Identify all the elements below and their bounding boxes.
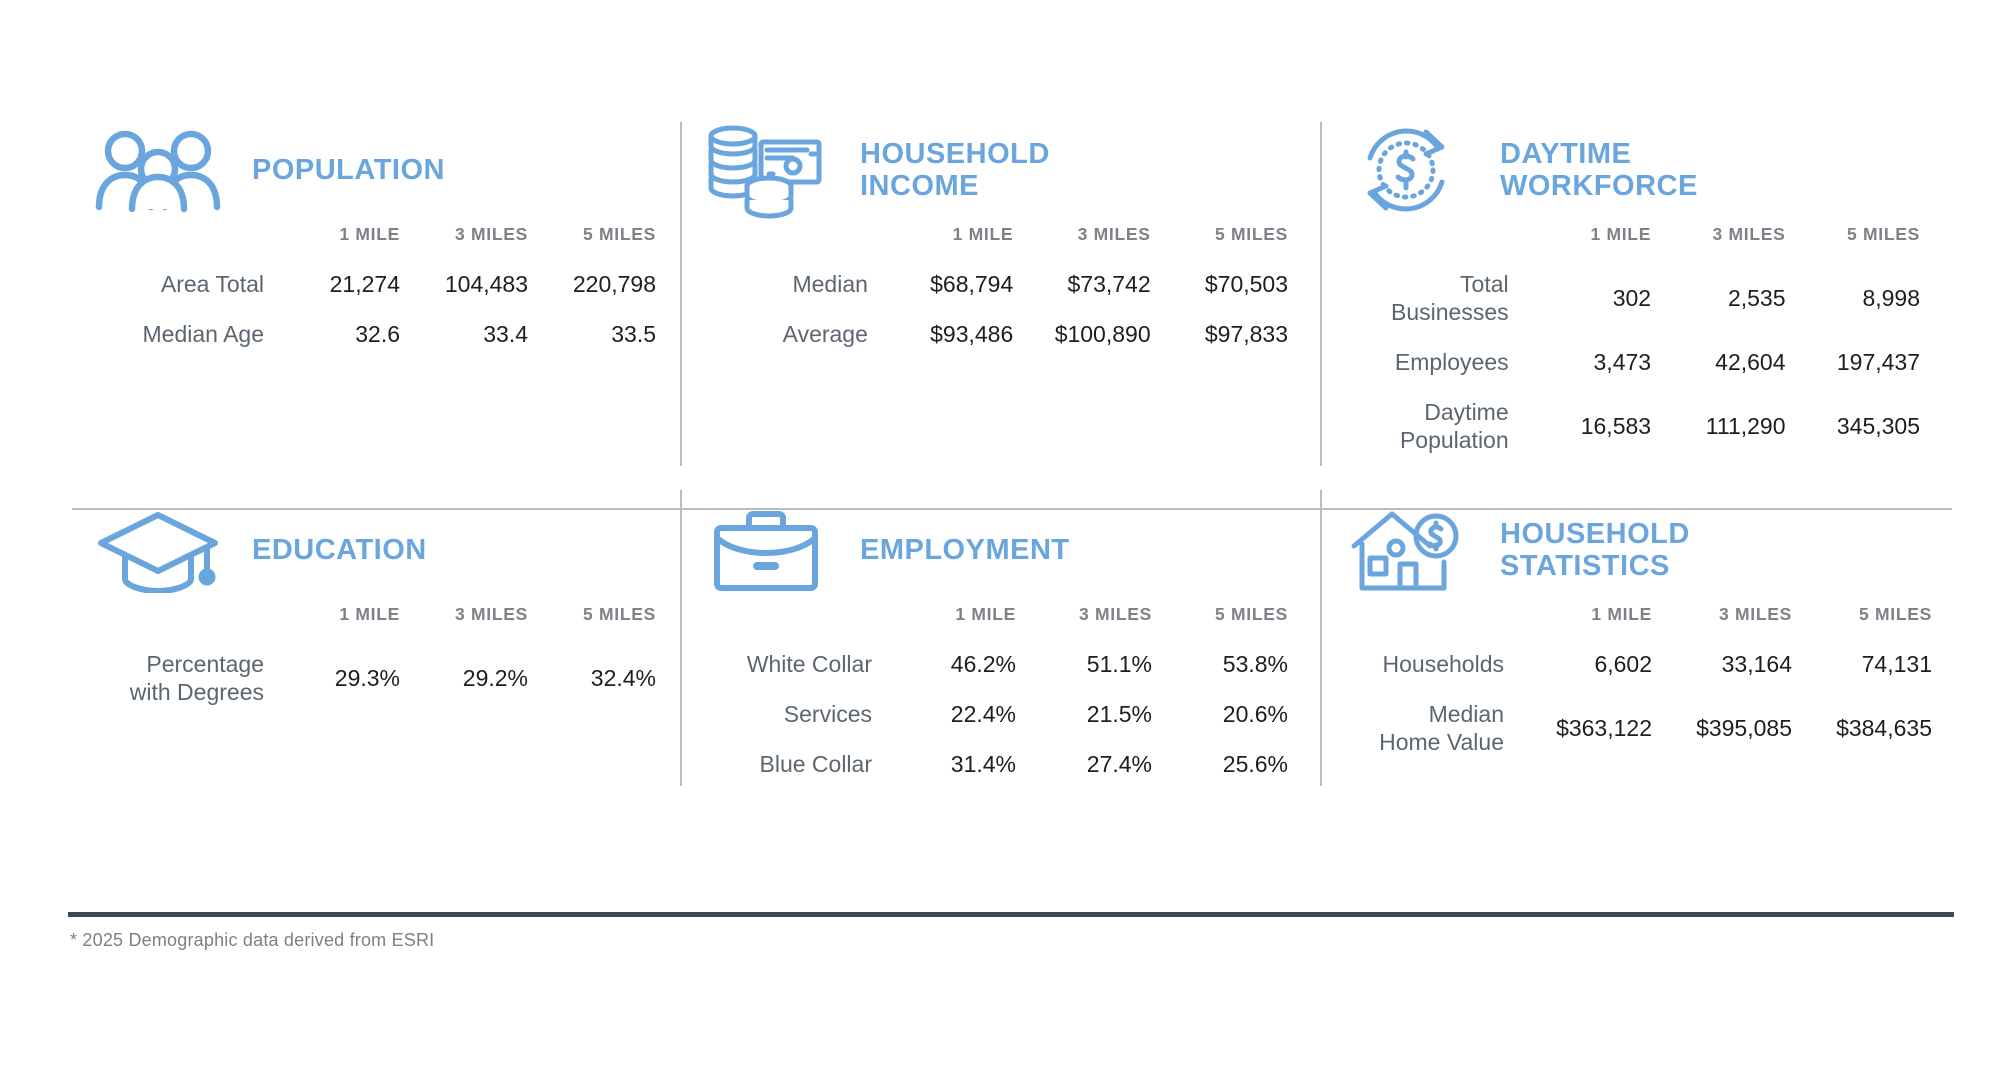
cell-value: 32.4% [546, 639, 674, 717]
table-row: Total Businesses 302 2,535 8,998 [1342, 259, 1938, 337]
column-header-3miles: 3 MILES [418, 604, 546, 639]
table-header-row: 1 MILE 3 MILES 5 MILES [702, 224, 1306, 259]
cell-value: 27.4% [1034, 739, 1170, 789]
table-header-row: 1 MILE 3 MILES 5 MILES [1342, 604, 1950, 639]
cell-value: 21.5% [1034, 689, 1170, 739]
panel-title: HOUSEHOLD INCOME [860, 138, 1050, 203]
cell-value: 51.1% [1034, 639, 1170, 689]
column-header-5miles: 5 MILES [1170, 604, 1306, 639]
column-header-1mile: 1 MILE [290, 604, 418, 639]
table-row: Percentage with Degrees 29.3% 29.2% 32.4… [94, 639, 674, 717]
column-header-5miles: 5 MILES [1804, 224, 1938, 259]
stats-table-employment: 1 MILE 3 MILES 5 MILES White Collar 46.2… [702, 604, 1306, 789]
panel-header-household-income: HOUSEHOLD INCOME [680, 118, 1320, 222]
panel-population: POPULATION 1 MILE 3 MILES 5 MILES Area T… [72, 118, 680, 476]
table-row: White Collar 46.2% 51.1% 53.8% [702, 639, 1306, 689]
column-header-3miles: 3 MILES [1031, 224, 1168, 259]
row-label: Daytime Population [1342, 387, 1535, 465]
row-label: Employees [1342, 337, 1535, 387]
cell-value: 220,798 [546, 259, 674, 309]
table-row: Services 22.4% 21.5% 20.6% [702, 689, 1306, 739]
panel-daytime-workforce: DAYTIME WORKFORCE 1 MILE 3 MILES 5 MILES… [1320, 118, 1952, 476]
row-label: Average [702, 309, 894, 359]
column-header-5miles: 5 MILES [1169, 224, 1306, 259]
cell-value: 21,274 [290, 259, 418, 309]
cell-value: 8,998 [1804, 259, 1938, 337]
column-header-1mile: 1 MILE [898, 604, 1034, 639]
cell-value: 6,602 [1530, 639, 1670, 689]
table-row: Households 6,602 33,164 74,131 [1342, 639, 1950, 689]
table-header-row: 1 MILE 3 MILES 5 MILES [702, 604, 1306, 639]
cell-value: 345,305 [1804, 387, 1938, 465]
table-row: Median Home Value $363,122 $395,085 $384… [1342, 689, 1950, 767]
panel-header-household-statistics: HOUSEHOLD STATISTICS [1320, 498, 1952, 602]
cell-value: 302 [1535, 259, 1669, 337]
row-label: Services [702, 689, 898, 739]
cell-value: 33.5 [546, 309, 674, 359]
panel-employment: EMPLOYMENT 1 MILE 3 MILES 5 MILES White … [680, 476, 1320, 816]
cell-value: 29.3% [290, 639, 418, 717]
footer-rule [68, 912, 1954, 917]
table-header-row: 1 MILE 3 MILES 5 MILES [94, 224, 674, 259]
cell-value: 22.4% [898, 689, 1034, 739]
table-header-row: 1 MILE 3 MILES 5 MILES [1342, 224, 1938, 259]
cell-value: 31.4% [898, 739, 1034, 789]
panel-title: DAYTIME WORKFORCE [1500, 138, 1698, 203]
row-label: Median [702, 259, 894, 309]
column-header-3miles: 3 MILES [418, 224, 546, 259]
row-label: Households [1342, 639, 1530, 689]
table-row: Blue Collar 31.4% 27.4% 25.6% [702, 739, 1306, 789]
row-label: Median Home Value [1342, 689, 1530, 767]
cell-value: $70,503 [1169, 259, 1306, 309]
table-row: Median Age 32.6 33.4 33.5 [94, 309, 674, 359]
panel-title: EMPLOYMENT [860, 534, 1070, 566]
row-label: Median Age [94, 309, 290, 359]
panel-header-employment: EMPLOYMENT [680, 498, 1320, 602]
panel-title: HOUSEHOLD STATISTICS [1500, 518, 1690, 583]
cell-value: 32.6 [290, 309, 418, 359]
row-label: Blue Collar [702, 739, 898, 789]
table-row: Median $68,794 $73,742 $70,503 [702, 259, 1306, 309]
panel-title: POPULATION [252, 154, 445, 186]
column-header-1mile: 1 MILE [1535, 224, 1669, 259]
cell-value: $73,742 [1031, 259, 1168, 309]
stats-table-daytime-workforce: 1 MILE 3 MILES 5 MILES Total Businesses … [1342, 224, 1938, 465]
cell-value: 33,164 [1670, 639, 1810, 689]
house-with-dollar-icon [1342, 504, 1470, 596]
column-header-3miles: 3 MILES [1034, 604, 1170, 639]
panel-household-statistics: HOUSEHOLD STATISTICS 1 MILE 3 MILES 5 MI… [1320, 476, 1952, 816]
graduation-cap-icon [94, 507, 222, 593]
column-header-5miles: 5 MILES [546, 604, 674, 639]
column-header-1mile: 1 MILE [894, 224, 1031, 259]
column-header-1mile: 1 MILE [290, 224, 418, 259]
cell-value: 3,473 [1535, 337, 1669, 387]
row-label: Area Total [94, 259, 290, 309]
column-header-5miles: 5 MILES [1810, 604, 1950, 639]
panel-header-daytime-workforce: DAYTIME WORKFORCE [1320, 118, 1952, 222]
column-header-1mile: 1 MILE [1530, 604, 1670, 639]
table-row: Daytime Population 16,583 111,290 345,30… [1342, 387, 1938, 465]
cell-value: 33.4 [418, 309, 546, 359]
cell-value: 197,437 [1804, 337, 1938, 387]
demographics-infographic: POPULATION 1 MILE 3 MILES 5 MILES Area T… [0, 0, 2000, 1080]
row-label: Total Businesses [1342, 259, 1535, 337]
column-header-5miles: 5 MILES [546, 224, 674, 259]
stats-table-household-income: 1 MILE 3 MILES 5 MILES Median $68,794 $7… [702, 224, 1306, 359]
cell-value: 46.2% [898, 639, 1034, 689]
cell-value: 2,535 [1669, 259, 1803, 337]
cell-value: $93,486 [894, 309, 1031, 359]
coins-and-cash-icon [702, 120, 830, 220]
panel-household-income: HOUSEHOLD INCOME 1 MILE 3 MILES 5 MILES … [680, 118, 1320, 476]
column-header-3miles: 3 MILES [1669, 224, 1803, 259]
cell-value: 42,604 [1669, 337, 1803, 387]
cell-value: $384,635 [1810, 689, 1950, 767]
table-header-row: 1 MILE 3 MILES 5 MILES [94, 604, 674, 639]
stats-table-household-statistics: 1 MILE 3 MILES 5 MILES Households 6,602 … [1342, 604, 1950, 767]
panel-header-education: EDUCATION [72, 498, 680, 602]
cell-value: $68,794 [894, 259, 1031, 309]
cell-value: 16,583 [1535, 387, 1669, 465]
cell-value: $363,122 [1530, 689, 1670, 767]
cell-value: $97,833 [1169, 309, 1306, 359]
briefcase-icon [702, 504, 830, 596]
row-label: Percentage with Degrees [94, 639, 290, 717]
stats-table-population: 1 MILE 3 MILES 5 MILES Area Total 21,274… [94, 224, 674, 359]
dollar-refresh-cycle-icon [1342, 120, 1470, 220]
column-header-3miles: 3 MILES [1670, 604, 1810, 639]
cell-value: 29.2% [418, 639, 546, 717]
three-people-icon [94, 127, 222, 213]
row-label: White Collar [702, 639, 898, 689]
cell-value: 104,483 [418, 259, 546, 309]
table-row: Employees 3,473 42,604 197,437 [1342, 337, 1938, 387]
cell-value: 53.8% [1170, 639, 1306, 689]
row-divider [72, 508, 1952, 510]
cell-value: $395,085 [1670, 689, 1810, 767]
panel-education: EDUCATION 1 MILE 3 MILES 5 MILES Percent… [72, 476, 680, 816]
table-row: Average $93,486 $100,890 $97,833 [702, 309, 1306, 359]
cell-value: 20.6% [1170, 689, 1306, 739]
panel-grid: POPULATION 1 MILE 3 MILES 5 MILES Area T… [72, 118, 1952, 816]
cell-value: 74,131 [1810, 639, 1950, 689]
footnote: * 2025 Demographic data derived from ESR… [70, 930, 434, 951]
cell-value: 25.6% [1170, 739, 1306, 789]
cell-value: $100,890 [1031, 309, 1168, 359]
cell-value: 111,290 [1669, 387, 1803, 465]
panel-header-population: POPULATION [72, 118, 680, 222]
stats-table-education: 1 MILE 3 MILES 5 MILES Percentage with D… [94, 604, 674, 717]
table-row: Area Total 21,274 104,483 220,798 [94, 259, 674, 309]
panel-title: EDUCATION [252, 534, 427, 566]
